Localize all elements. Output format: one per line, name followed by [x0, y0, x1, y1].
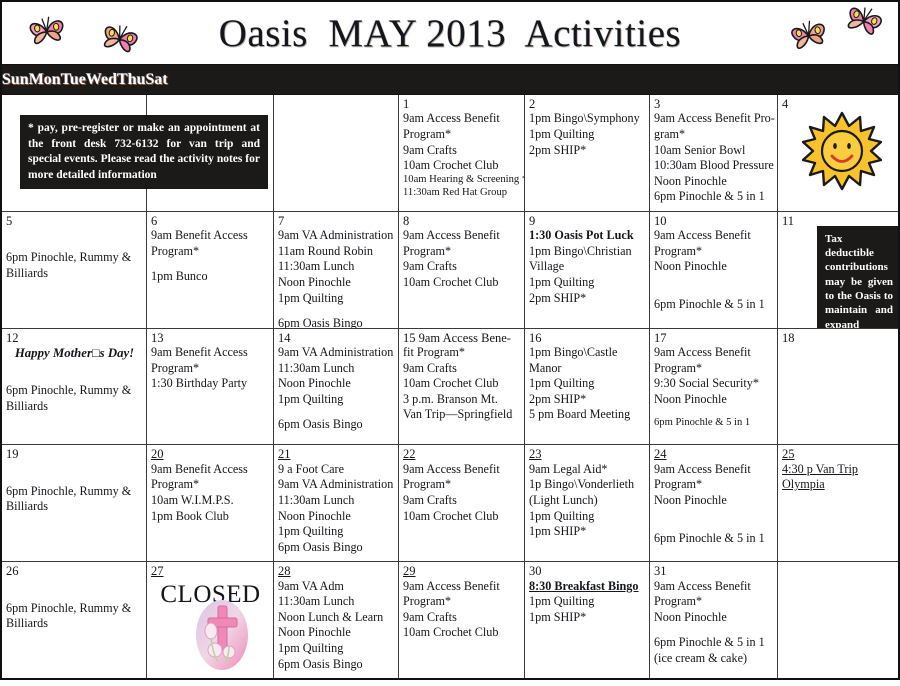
day-number: 12	[6, 331, 143, 345]
event-text: 11am Round Robin	[278, 244, 395, 260]
event-text: Noon Pinochle	[654, 610, 774, 626]
day-number: 6	[151, 214, 270, 228]
event-text: 10am W.I.M.P.S.	[151, 493, 270, 509]
event-text: 6pm Pinochle & 5 in 1	[654, 417, 774, 430]
event-text: 6pm Pinochle, Rummy &	[6, 484, 143, 500]
event-text: Program*	[654, 244, 774, 260]
calendar-day-cell-26[interactable]: 266pm Pinochle, Rummy &Billiards	[2, 562, 147, 678]
event-text: fit Program*	[403, 345, 521, 361]
day-number: 28	[278, 564, 395, 578]
event-text: Billiards	[6, 266, 143, 282]
event-text: 10:30am Blood Pressure	[654, 158, 774, 174]
event-text: 9am Access Benefit	[403, 228, 521, 244]
event-text: Program*	[654, 477, 774, 493]
day-number: 31	[654, 564, 774, 578]
event-text: Noon Pinochle	[654, 174, 774, 190]
cross-with-lilies-icon	[191, 598, 253, 677]
event-text: Noon Pinochle	[278, 275, 395, 291]
day-number: 25	[782, 447, 895, 461]
butterfly-icon	[24, 11, 73, 56]
event-text: Noon Pinochle	[654, 392, 774, 408]
weekday-header-row: Sun Mon Tue Wed Thu Sat	[0, 64, 900, 94]
calendar-day-cell-24[interactable]: 249am Access BenefitProgram*Noon Pinochl…	[650, 445, 778, 561]
calendar-day-cell-9[interactable]: 91:30 Oasis Pot Luck1pm Bingo\ChristianV…	[525, 212, 650, 328]
event-text: Program*	[654, 361, 774, 377]
event-text: 1pm Bingo\Christian	[529, 244, 646, 260]
event-text: Billiards	[6, 616, 143, 632]
event-text: Program*	[403, 594, 521, 610]
event-text: Olympia	[782, 477, 895, 493]
event-text: Noon Lunch & Learn	[278, 610, 395, 626]
event-text: 2pm SHIP*	[529, 143, 646, 159]
event-text: 6pm Pinochle, Rummy &	[6, 383, 143, 399]
day-number: 22	[403, 447, 521, 461]
calendar-day-cell-8[interactable]: 89am Access BenefitProgram*9am Crafts10a…	[399, 212, 525, 328]
calendar-day-cell-29[interactable]: 299am Access BenefitProgram*9am Crafts10…	[399, 562, 525, 678]
event-text: 1pm Quilting	[278, 641, 395, 657]
event-text: 9am VA Administration	[278, 228, 395, 244]
event-text: 1pm Quilting	[529, 275, 646, 291]
event-text: 10am Crochet Club	[403, 275, 521, 291]
event-text: 9am Crafts	[403, 259, 521, 275]
event-text: 9am Crafts	[403, 143, 521, 159]
day-number: 30	[529, 564, 646, 578]
calendar-day-cell-3[interactable]: 39am Access Benefit Pro-gram*10am Senior…	[650, 95, 778, 211]
event-text: 9am Legal Aid*	[529, 462, 646, 478]
calendar-day-cell-4[interactable]: 4	[778, 95, 898, 211]
event-text: 10am Crochet Club	[403, 509, 521, 525]
calendar-day-cell-10[interactable]: 109am Access BenefitProgram*Noon Pinochl…	[650, 212, 778, 328]
event-text: 6pm Pinochle, Rummy &	[6, 601, 143, 617]
event-text: Program*	[403, 244, 521, 260]
event-text: Program*	[151, 244, 270, 260]
event-text: 6pm Pinochle & 5 in 1	[654, 635, 774, 651]
event-text: 9am Benefit Access	[151, 462, 270, 478]
calendar-week-row: 12Happy Mother□s Day!6pm Pinochle, Rummy…	[2, 329, 898, 446]
event-text: (Light Lunch)	[529, 493, 646, 509]
day-number: 15 9am Access Bene-	[403, 331, 521, 345]
event-text: 9am VA Adm	[278, 579, 395, 595]
event-text: 1pm Quilting	[529, 594, 646, 610]
calendar-banner: Oasis MAY 2013 Activities	[0, 0, 900, 64]
event-text: 9am Benefit Access	[151, 345, 270, 361]
event-text: 1pm SHIP*	[529, 610, 646, 626]
calendar-day-cell-empty[interactable]: * pay, pre-register or make an appointme…	[2, 95, 147, 211]
event-text: 3 p.m. Branson Mt.	[403, 392, 521, 408]
event-text: 9am Access Bene-	[416, 331, 511, 345]
day-number: 16	[529, 331, 646, 345]
weekday-header-thu: Thu	[117, 65, 145, 94]
calendar-day-cell-14[interactable]: 149am VA Administration11:30am LunchNoon…	[274, 329, 399, 445]
event-text: (ice cream & cake)	[654, 651, 774, 667]
event-text: 9 a Foot Care	[278, 462, 395, 478]
event-text: Program*	[654, 594, 774, 610]
calendar-week-row: 196pm Pinochle, Rummy &Billiards209am Be…	[2, 445, 898, 562]
event-text: 6pm Oasis Bingo	[278, 417, 395, 433]
day-number: 4	[782, 97, 895, 111]
calendar-week-row: 56pm Pinochle, Rummy &Billiards69am Bene…	[2, 212, 898, 329]
event-text: 6pm Pinochle & 5 in 1	[654, 297, 774, 313]
event-text: 9am Access Benefit	[654, 228, 774, 244]
event-text: 1pm Quilting	[529, 127, 646, 143]
weekday-header-tue: Tue	[61, 65, 86, 94]
event-text: 11:30am Lunch	[278, 259, 395, 275]
butterfly-icon	[94, 17, 146, 64]
weekday-header-sun: Sun	[2, 65, 29, 94]
event-text: 9am VA Administration	[278, 477, 395, 493]
event-text: 9am Access Benefit	[654, 462, 774, 478]
event-text: 10am Crochet Club	[403, 625, 521, 641]
weekday-header-sat: Sat	[146, 65, 168, 94]
event-text: 9:30 Social Security*	[654, 376, 774, 392]
event-text: Program*	[403, 127, 521, 143]
calendar-day-cell-18[interactable]: 18	[778, 329, 898, 445]
calendar-day-cell-27[interactable]: 27CLOSED	[147, 562, 274, 678]
event-text: 6pm Pinochle, Rummy &	[6, 250, 143, 266]
calendar-week-row: 266pm Pinochle, Rummy &Billiards27CLOSED…	[2, 562, 898, 678]
calendar-day-cell-28[interactable]: 289am VA Adm11:30am LunchNoon Lunch & Le…	[274, 562, 399, 678]
event-text: 2pm SHIP*	[529, 392, 646, 408]
event-text: 1pm Book Club	[151, 509, 270, 525]
event-text: Noon Pinochle	[654, 259, 774, 275]
smiling-sun-icon	[802, 111, 882, 196]
weekday-header-mon: Mon	[29, 65, 61, 94]
tax-note-box: Tax deductible contributions may be give…	[817, 226, 898, 328]
day-number: 21	[278, 447, 395, 461]
event-text: 1pm Quilting	[278, 392, 395, 408]
event-text: Program*	[151, 477, 270, 493]
event-text: 6pm Pinochle & 5 in 1	[654, 189, 774, 205]
day-number: 5	[6, 214, 143, 228]
event-text: 6pm Oasis Bingo	[278, 316, 395, 327]
calendar-day-cell-empty[interactable]	[274, 95, 399, 211]
event-text: 1p Bingo\Vonderlieth	[529, 477, 646, 493]
event-text: Program*	[403, 477, 521, 493]
calendar-day-cell-5[interactable]: 56pm Pinochle, Rummy &Billiards	[2, 212, 147, 328]
calendar-day-cell-19[interactable]: 196pm Pinochle, Rummy &Billiards	[2, 445, 147, 561]
calendar-day-cell-20[interactable]: 209am Benefit AccessProgram*10am W.I.M.P…	[147, 445, 274, 561]
day-number: 29	[403, 564, 521, 578]
event-text: Van Trip—Springfield	[403, 407, 521, 423]
event-text: Manor	[529, 361, 646, 377]
calendar-day-cell-12[interactable]: 12Happy Mother□s Day!6pm Pinochle, Rummy…	[2, 329, 147, 445]
event-text: 9am Access Benefit	[654, 345, 774, 361]
calendar-day-cell-15[interactable]: 15 9am Access Bene-fit Program*9am Craft…	[399, 329, 525, 445]
event-text: 1pm Quilting	[529, 509, 646, 525]
day-number: 8	[403, 214, 521, 228]
event-text: 11:30am Lunch	[278, 361, 395, 377]
day-number: 27	[151, 564, 270, 578]
calendar-page: Oasis MAY 2013 Activities	[0, 0, 900, 686]
calendar-day-cell-17[interactable]: 179am Access BenefitProgram*9:30 Social …	[650, 329, 778, 445]
calendar-grid: * pay, pre-register or make an appointme…	[0, 94, 900, 680]
day-number: 13	[151, 331, 270, 345]
event-text: gram*	[654, 127, 774, 143]
event-text: Village	[529, 259, 646, 275]
calendar-day-cell-22[interactable]: 229am Access BenefitProgram*9am Crafts10…	[399, 445, 525, 561]
day-number: 18	[782, 331, 895, 345]
event-text: 11:30am Lunch	[278, 594, 395, 610]
calendar-day-cell-empty[interactable]	[778, 562, 898, 678]
event-text: 2pm SHIP*	[529, 291, 646, 307]
event-text: 9am VA Administration	[278, 345, 395, 361]
calendar-day-cell-1[interactable]: 19am Access BenefitProgram*9am Crafts10a…	[399, 95, 525, 211]
event-text: 9am Access Benefit	[403, 462, 521, 478]
calendar-day-cell-25[interactable]: 254:30 p Van TripOlympia	[778, 445, 898, 561]
calendar-day-cell-6[interactable]: 69am Benefit AccessProgram*1pm Bunco	[147, 212, 274, 328]
event-text: 1pm Bingo\Castle	[529, 345, 646, 361]
event-text: 10am Senior Bowl	[654, 143, 774, 159]
day-number: 9	[529, 214, 646, 228]
day-number: 17	[654, 331, 774, 345]
event-text: 11:30am Red Hat Group	[403, 187, 521, 200]
event-text: 1pm Bingo\Symphony	[529, 111, 646, 127]
event-text: Happy Mother□s Day!	[6, 345, 143, 361]
asterisk-note-box: * pay, pre-register or make an appointme…	[20, 115, 268, 189]
calendar-day-cell-13[interactable]: 139am Benefit AccessProgram*1:30 Birthda…	[147, 329, 274, 445]
event-text: 9am Access Benefit	[654, 579, 774, 595]
day-number: 1	[403, 97, 521, 111]
event-text: 10am Crochet Club	[403, 158, 521, 174]
event-text: Noon Pinochle	[278, 625, 395, 641]
event-text: 1pm Quilting	[278, 524, 395, 540]
calendar-day-cell-16[interactable]: 161pm Bingo\CastleManor1pm Quilting2pm S…	[525, 329, 650, 445]
event-text: 4:30 p Van Trip	[782, 462, 895, 478]
day-number: 2	[529, 97, 646, 111]
event-text: Noon Pinochle	[654, 493, 774, 509]
event-text: 8:30 Breakfast Bingo	[529, 579, 646, 595]
event-text: 10am Hearing & Screening *	[403, 174, 521, 187]
event-text: 10am Crochet Club	[403, 376, 521, 392]
calendar-day-cell-31[interactable]: 319am Access BenefitProgram*Noon Pinochl…	[650, 562, 778, 678]
day-number: 19	[6, 447, 143, 461]
event-text: 9am Crafts	[403, 493, 521, 509]
day-number: 3	[654, 97, 774, 111]
event-text: Billiards	[6, 499, 143, 515]
event-text: 11:30am Lunch	[278, 493, 395, 509]
day-number: 10	[654, 214, 774, 228]
weekday-header-wed: Wed	[86, 65, 117, 94]
page-title: Oasis MAY 2013 Activities	[219, 11, 681, 56]
event-text: 6pm Oasis Bingo	[278, 657, 395, 673]
calendar-day-cell-21[interactable]: 219 a Foot Care9am VA Administration11:3…	[274, 445, 399, 561]
butterfly-icon	[784, 14, 835, 61]
event-text: 5 pm Board Meeting	[529, 407, 646, 423]
calendar-week-row: * pay, pre-register or make an appointme…	[2, 95, 898, 212]
event-text: 1pm SHIP*	[529, 524, 646, 540]
event-text: 1:30 Oasis Pot Luck	[529, 228, 646, 244]
day-number: 23	[529, 447, 646, 461]
event-text: 1pm Bunco	[151, 269, 270, 285]
event-text: 6pm Oasis Bingo	[278, 540, 395, 556]
day-number: 26	[6, 564, 143, 578]
event-text: 9am Crafts	[403, 610, 521, 626]
calendar-day-cell-11[interactable]: 11Tax deductible contributions may be gi…	[778, 212, 898, 328]
calendar-day-cell-30[interactable]: 308:30 Breakfast Bingo1pm Quilting1pm SH…	[525, 562, 650, 678]
day-number: 14	[278, 331, 395, 345]
day-number: 7	[278, 214, 395, 228]
event-text: 1pm Quilting	[529, 376, 646, 392]
event-text: 9am Access Benefit Pro-	[654, 111, 774, 127]
calendar-day-cell-7[interactable]: 79am VA Administration11am Round Robin11…	[274, 212, 399, 328]
calendar-day-cell-23[interactable]: 239am Legal Aid*1p Bingo\Vonderlieth(Lig…	[525, 445, 650, 561]
event-text: 6pm Pinochle & 5 in 1	[654, 531, 774, 547]
day-number: 20	[151, 447, 270, 461]
event-text: Program*	[151, 361, 270, 377]
butterfly-icon	[837, 0, 891, 49]
event-text: Noon Pinochle	[278, 376, 395, 392]
event-text: 9am Crafts	[403, 361, 521, 377]
event-text: 9am Access Benefit	[403, 111, 521, 127]
event-text: 9am Benefit Access	[151, 228, 270, 244]
calendar-day-cell-2[interactable]: 21pm Bingo\Symphony1pm Quilting2pm SHIP*	[525, 95, 650, 211]
event-text: Billiards	[6, 399, 143, 415]
event-text: 1pm Quilting	[278, 291, 395, 307]
event-text: 9am Access Benefit	[403, 579, 521, 595]
event-text: Noon Pinochle	[278, 509, 395, 525]
event-text: 1:30 Birthday Party	[151, 376, 270, 392]
day-number: 24	[654, 447, 774, 461]
